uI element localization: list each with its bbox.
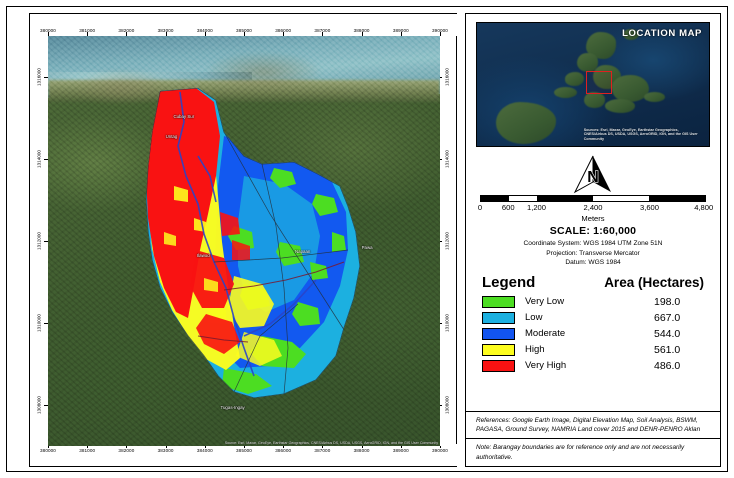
scale-tick: 1,200 xyxy=(527,203,546,212)
graticule-right: 13160001314000131200013100001308000 xyxy=(438,36,456,446)
y-axis-label: 1308000 xyxy=(445,396,450,414)
legend-swatch-very-low xyxy=(482,296,515,308)
legend-header: Legend Area (Hectares) xyxy=(482,274,704,291)
area-of-interest-box xyxy=(586,71,612,94)
legend-label: High xyxy=(525,344,646,355)
scale-tick: 600 xyxy=(502,203,515,212)
location-map[interactable]: LOCATION MAP Sources: Esri, Maxar, GeoEy… xyxy=(476,22,710,147)
legend-value: 667.0 xyxy=(646,312,704,324)
legend-row[interactable]: Very High 486.0 xyxy=(482,360,704,372)
scale-bar xyxy=(480,195,706,202)
scale-bar-ticks: 0 600 1,200 2,400 3,600 4,800 xyxy=(480,203,706,214)
legend: Legend Area (Hectares) Very Low 198.0 Lo… xyxy=(466,268,720,376)
coordinate-system: Coordinate System: WGS 1984 UTM Zone 51N xyxy=(480,239,706,249)
satellite-imagery[interactable]: Cubay Sur Untag Ilawod Napaan Pawa Tugas… xyxy=(48,36,440,446)
footer-notes: References: Google Earth Image, Digital … xyxy=(466,411,720,466)
legend-title: Legend xyxy=(482,274,535,291)
y-axis-label: 1308000 xyxy=(37,396,42,414)
x-axis-label: 390000 xyxy=(432,448,448,453)
legend-swatch-very-high xyxy=(482,360,515,372)
y-axis-label: 1314000 xyxy=(445,150,450,168)
scale-tick: 3,600 xyxy=(640,203,659,212)
x-axis-label: 385000 xyxy=(236,448,252,453)
y-axis-label: 1312000 xyxy=(445,232,450,250)
x-axis-label: 388000 xyxy=(354,448,370,453)
legend-rows: Very Low 198.0 Low 667.0 Moderate 544.0 xyxy=(482,296,704,372)
x-axis-label: 387000 xyxy=(314,448,330,453)
note-text: Note: Barangay boundaries are for refere… xyxy=(476,443,712,462)
basemap-attribution: Source: Esri, Maxar, GeoEye, Earthstar G… xyxy=(225,441,438,445)
references-box: References: Google Earth Image, Digital … xyxy=(466,411,720,439)
crs-info: Coordinate System: WGS 1984 UTM Zone 51N… xyxy=(480,239,706,268)
location-map-attribution: Sources: Esri, Maxar, GeoEye, Earthstar … xyxy=(584,128,700,142)
legend-value: 544.0 xyxy=(646,328,704,340)
graticule-bottom: 3800003810003820003830003840003850003860… xyxy=(30,444,458,466)
x-axis-label: 380000 xyxy=(40,448,56,453)
hazard-overlay[interactable] xyxy=(48,36,440,446)
graticule-top: 3800003810003820003830003840003850003860… xyxy=(30,14,458,36)
y-axis-label: 1310000 xyxy=(37,314,42,332)
legend-label: Moderate xyxy=(525,328,646,339)
x-axis-label: 384000 xyxy=(197,448,213,453)
scale-bar-container: 0 600 1,200 2,400 3,600 4,800 Meters SCA… xyxy=(466,195,720,268)
x-axis-label: 381000 xyxy=(79,448,95,453)
scale-tick: 4,800 xyxy=(694,203,713,212)
main-map-panel[interactable]: 3800003810003820003830003840003850003860… xyxy=(29,13,457,467)
map-layout-frame: 3800003810003820003830003840003850003860… xyxy=(6,6,728,472)
scale-tick: 0 xyxy=(478,203,482,212)
legend-row[interactable]: High 561.0 xyxy=(482,344,704,356)
legend-row[interactable]: Low 667.0 xyxy=(482,312,704,324)
y-axis-label: 1314000 xyxy=(37,150,42,168)
references-text: References: Google Earth Image, Digital … xyxy=(476,416,712,435)
y-axis-label: 1316000 xyxy=(445,68,450,86)
scale-units: Meters xyxy=(480,214,706,223)
y-axis-label: 1312000 xyxy=(37,232,42,250)
legend-swatch-high xyxy=(482,344,515,356)
y-axis-label: 1316000 xyxy=(37,68,42,86)
legend-value: 198.0 xyxy=(646,296,704,308)
legend-value: 561.0 xyxy=(646,344,704,356)
map-page: 3800003810003820003830003840003850003860… xyxy=(0,0,734,478)
legend-value: 486.0 xyxy=(646,360,704,372)
graticule-left: 13160001314000131200013100001308000 xyxy=(30,36,48,446)
map-side-panel: LOCATION MAP Sources: Esri, Maxar, GeoEy… xyxy=(465,13,721,467)
legend-area-header: Area (Hectares) xyxy=(604,275,704,290)
legend-row[interactable]: Moderate 544.0 xyxy=(482,328,704,340)
legend-swatch-low xyxy=(482,312,515,324)
location-map-container: LOCATION MAP Sources: Esri, Maxar, GeoEy… xyxy=(466,14,720,149)
scale-ratio: SCALE: 1:60,000 xyxy=(480,225,706,237)
legend-label: Low xyxy=(525,312,646,323)
scale-tick: 2,400 xyxy=(583,203,602,212)
x-axis-label: 382000 xyxy=(118,448,134,453)
svg-text:N: N xyxy=(587,169,599,186)
location-map-title: LOCATION MAP xyxy=(622,28,702,39)
legend-label: Very Low xyxy=(525,296,646,307)
y-axis-label: 1310000 xyxy=(445,314,450,332)
legend-swatch-moderate xyxy=(482,328,515,340)
legend-row[interactable]: Very Low 198.0 xyxy=(482,296,704,308)
north-arrow: N xyxy=(570,154,616,194)
legend-label: Very High xyxy=(525,360,646,371)
x-axis-label: 389000 xyxy=(393,448,409,453)
x-axis-label: 386000 xyxy=(275,448,291,453)
projection: Projection: Transverse Mercator xyxy=(480,249,706,259)
note-box: Note: Barangay boundaries are for refere… xyxy=(466,438,720,466)
x-axis-label: 383000 xyxy=(158,448,174,453)
datum: Datum: WGS 1984 xyxy=(480,258,706,268)
